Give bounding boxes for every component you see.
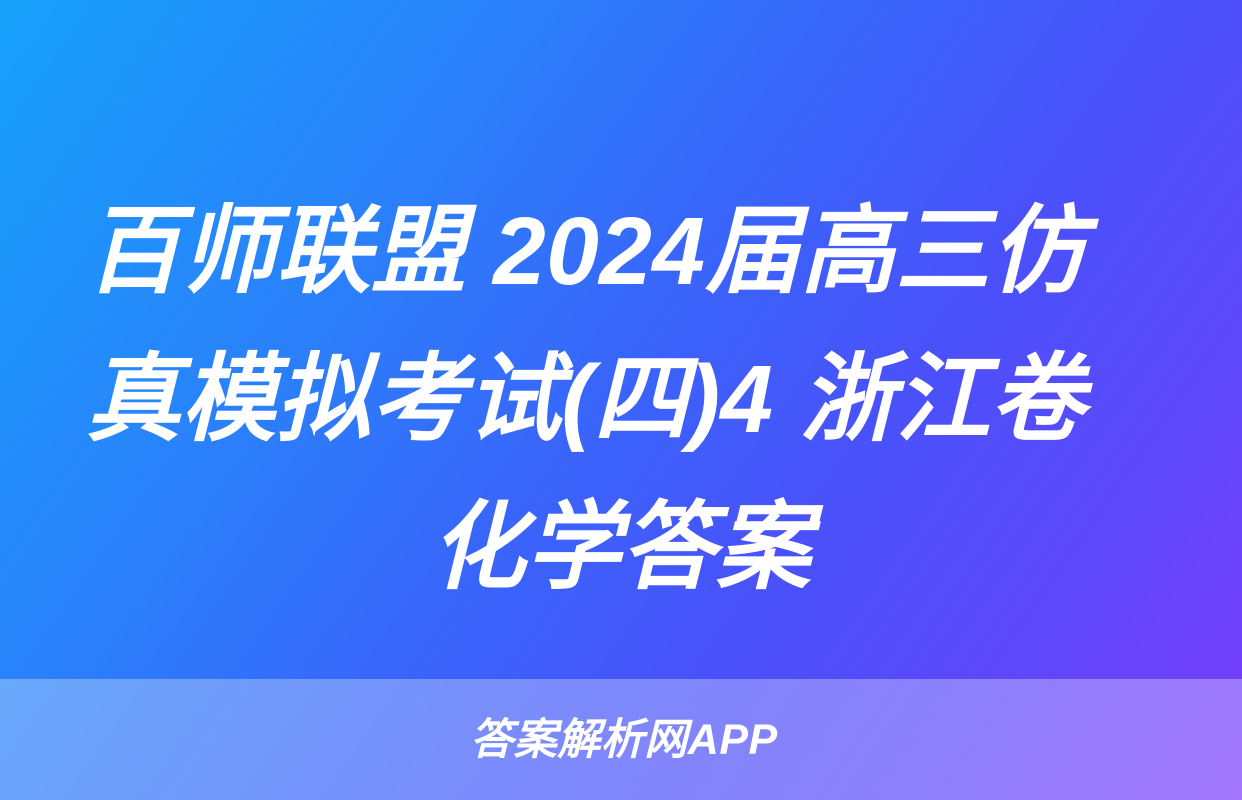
title-line-3: 化学答案 bbox=[86, 474, 1156, 622]
footer-brand-label: 答案解析网APP bbox=[470, 715, 777, 765]
footer-brand-band: 答案解析网APP bbox=[0, 679, 1242, 800]
cover-page: 百师联盟 2024届高三仿 真模拟考试(四)4 浙江卷 化学答案 答案解析网AP… bbox=[0, 0, 1242, 800]
cover-title: 百师联盟 2024届高三仿 真模拟考试(四)4 浙江卷 化学答案 bbox=[0, 178, 1242, 622]
title-line-1: 百师联盟 2024届高三仿 bbox=[86, 178, 1156, 326]
title-line-2: 真模拟考试(四)4 浙江卷 bbox=[86, 326, 1156, 474]
